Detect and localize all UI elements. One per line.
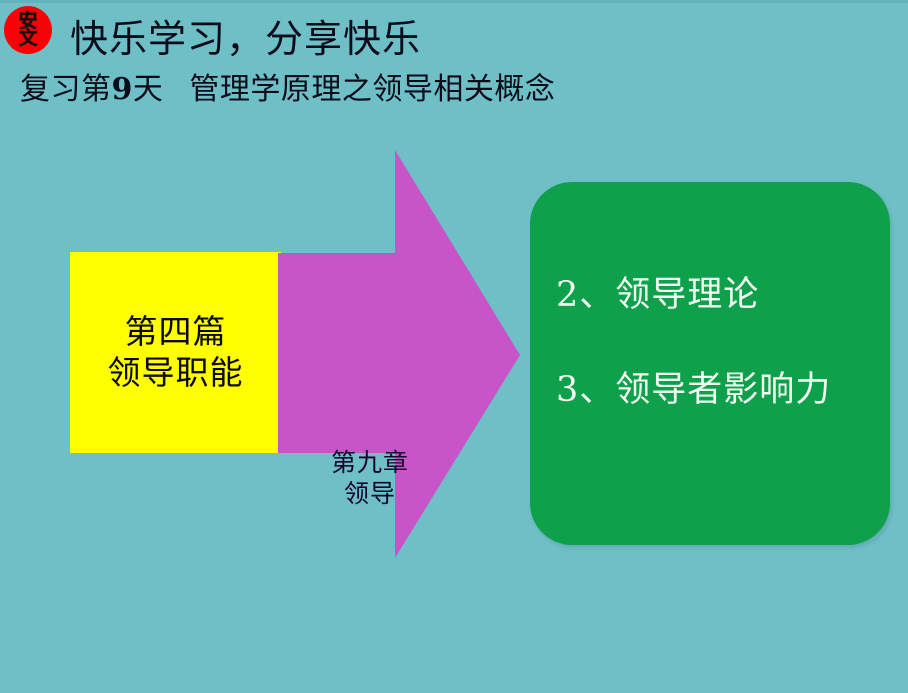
seal-logo-icon: 安 文	[4, 6, 52, 54]
arrow-label-line-1: 第九章	[300, 447, 440, 478]
arrow-label-line-2: 领导	[300, 478, 440, 509]
subtitle-suffix: 天	[133, 72, 164, 107]
yellow-box-line-1: 第四篇	[125, 312, 227, 352]
seal-logo-char-bottom: 文	[18, 30, 37, 47]
subtitle-prefix: 复习第	[20, 72, 112, 107]
topic-item-1: 2、领导理论	[556, 266, 759, 317]
yellow-section-box: 第四篇 领导职能	[70, 252, 281, 453]
topics-green-box: 2、领导理论 3、领导者影响力	[530, 182, 890, 545]
slide-top-edge	[0, 0, 908, 3]
topic-item-2: 3、领导者影响力	[556, 361, 831, 412]
slide-canvas: 安 文 快乐学习，分享快乐 复习第9天管理学原理之领导相关概念 第四篇 领导职能…	[0, 0, 908, 693]
subtitle-day-number: 9	[112, 72, 133, 107]
arrow-label: 第九章 领导	[300, 447, 440, 510]
slide-title: 快乐学习，分享快乐	[70, 8, 421, 63]
chapter-arrow: 第九章 领导	[278, 150, 520, 558]
slide-subtitle: 复习第9天管理学原理之领导相关概念	[20, 64, 555, 108]
yellow-box-line-2: 领导职能	[108, 353, 244, 393]
subtitle-topic: 管理学原理之领导相关概念	[189, 72, 555, 107]
